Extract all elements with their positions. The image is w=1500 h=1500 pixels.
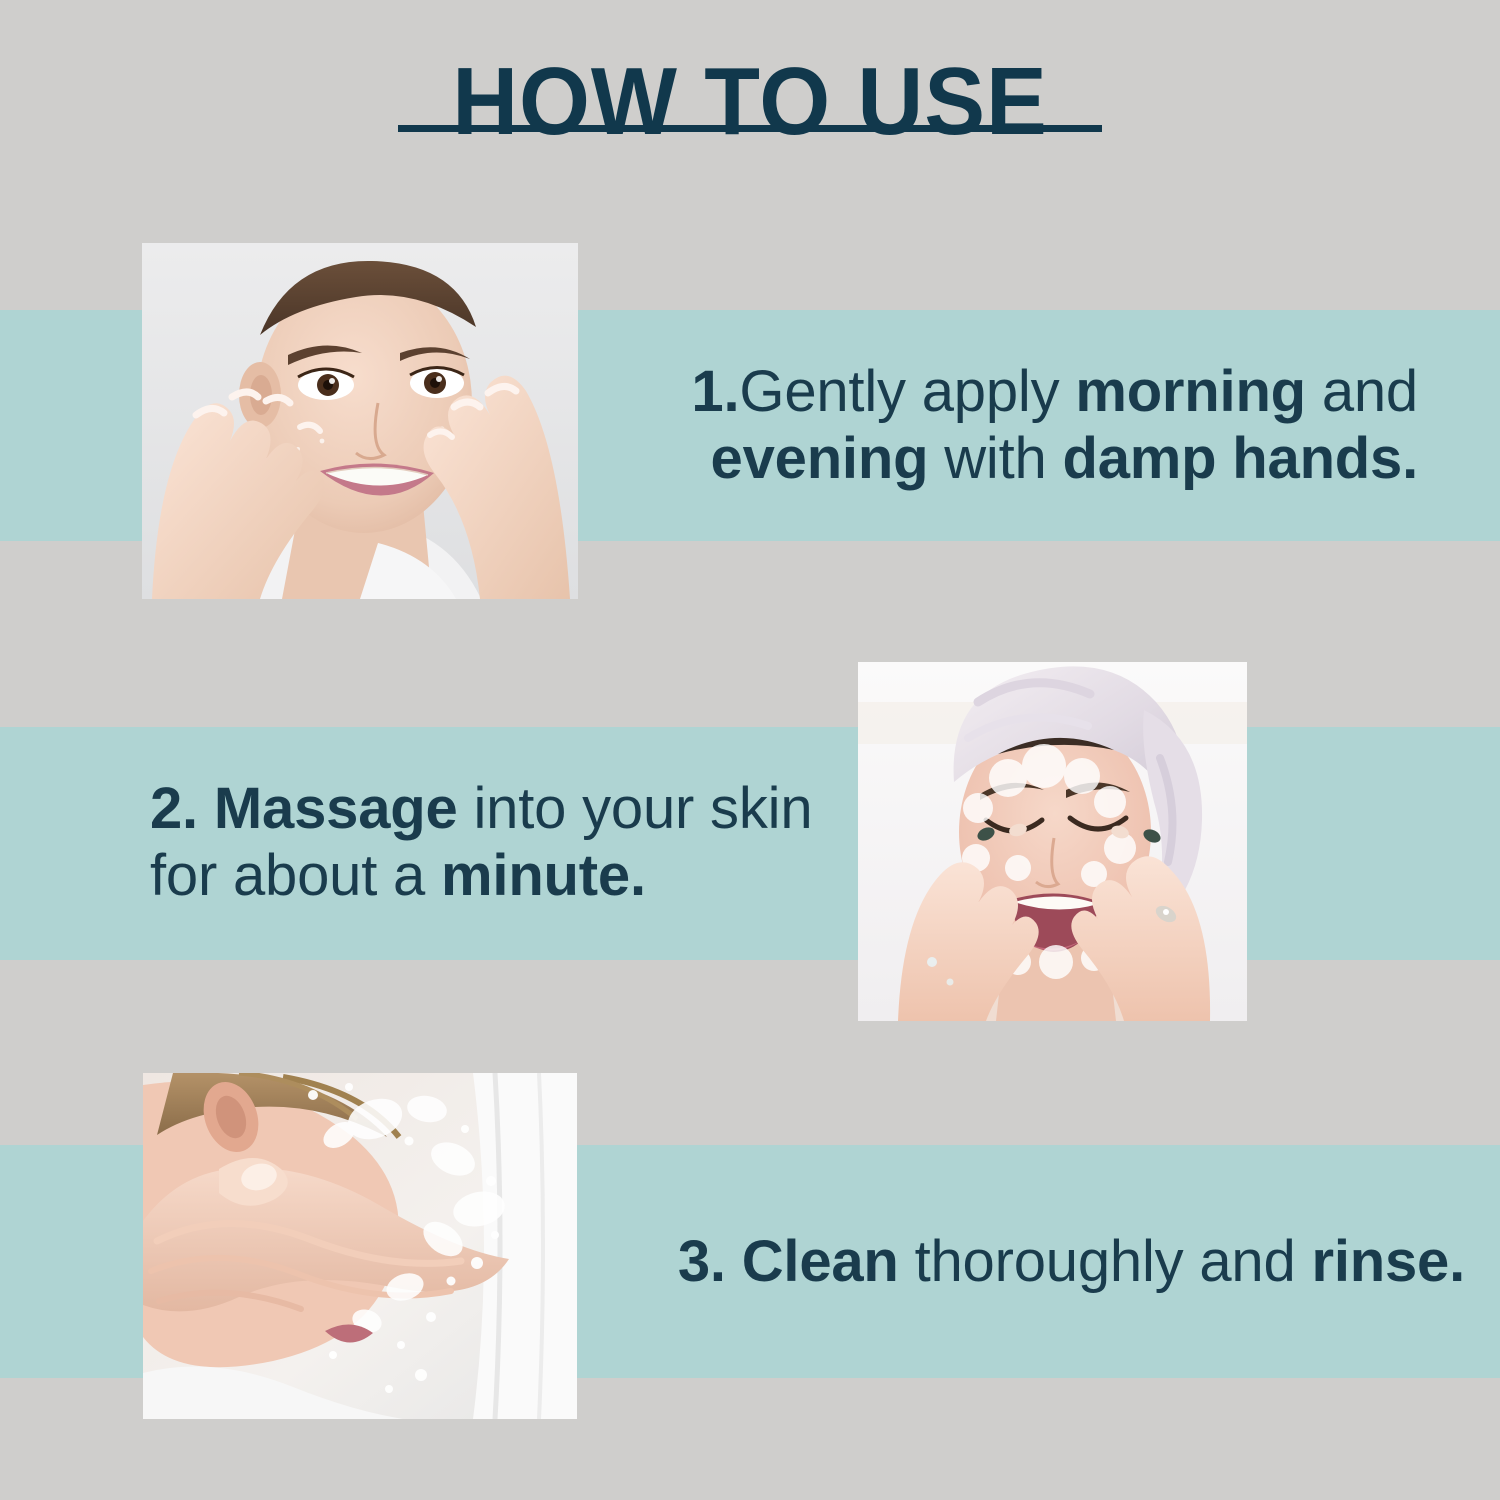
- step-1-photo-illustration: [142, 243, 578, 599]
- step-1-photo: [142, 243, 578, 599]
- title-block: HOW TO USE: [0, 54, 1500, 150]
- step-2-photo: [858, 662, 1247, 1021]
- step-3-number: 3.: [678, 1229, 726, 1294]
- step-1-text: 1.Gently apply morning and evening with …: [648, 358, 1418, 493]
- page-title: HOW TO USE: [38, 54, 1463, 150]
- step-2-number: 2.: [150, 776, 198, 841]
- title-underline-rule: [398, 125, 1102, 132]
- infographic-canvas: HOW TO USE: [0, 0, 1500, 1500]
- step-3-part1: thoroughly and: [899, 1229, 1312, 1294]
- step-1-line2-part1: with: [928, 426, 1062, 491]
- step-2-line2-bold: minute.: [441, 843, 646, 908]
- step-2-photo-illustration: [858, 662, 1247, 1021]
- step-3-photo: [143, 1073, 577, 1419]
- step-3-bold1: Clean: [742, 1229, 899, 1294]
- step-2-line1-bold: Massage: [214, 776, 458, 841]
- step-1-line2-bold1: evening: [711, 426, 929, 491]
- step-1-line1-part1: Gently apply: [739, 359, 1075, 424]
- step-3-photo-illustration: [143, 1073, 577, 1419]
- step-1-number: 1.: [691, 359, 739, 424]
- step-2-line2-part1: for about a: [150, 843, 441, 908]
- step-1-line2-bold2: damp hands.: [1062, 426, 1418, 491]
- step-2-text: 2. Massage into your skin for about a mi…: [150, 775, 850, 910]
- step-1-line1-part2: and: [1306, 359, 1418, 424]
- step-3-bold2: rinse.: [1311, 1229, 1465, 1294]
- step-3-text: 3. Clean thoroughly and rinse.: [640, 1228, 1465, 1295]
- step-1-line1-bold: morning: [1075, 359, 1306, 424]
- step-2-line1-part1: into your skin: [458, 776, 813, 841]
